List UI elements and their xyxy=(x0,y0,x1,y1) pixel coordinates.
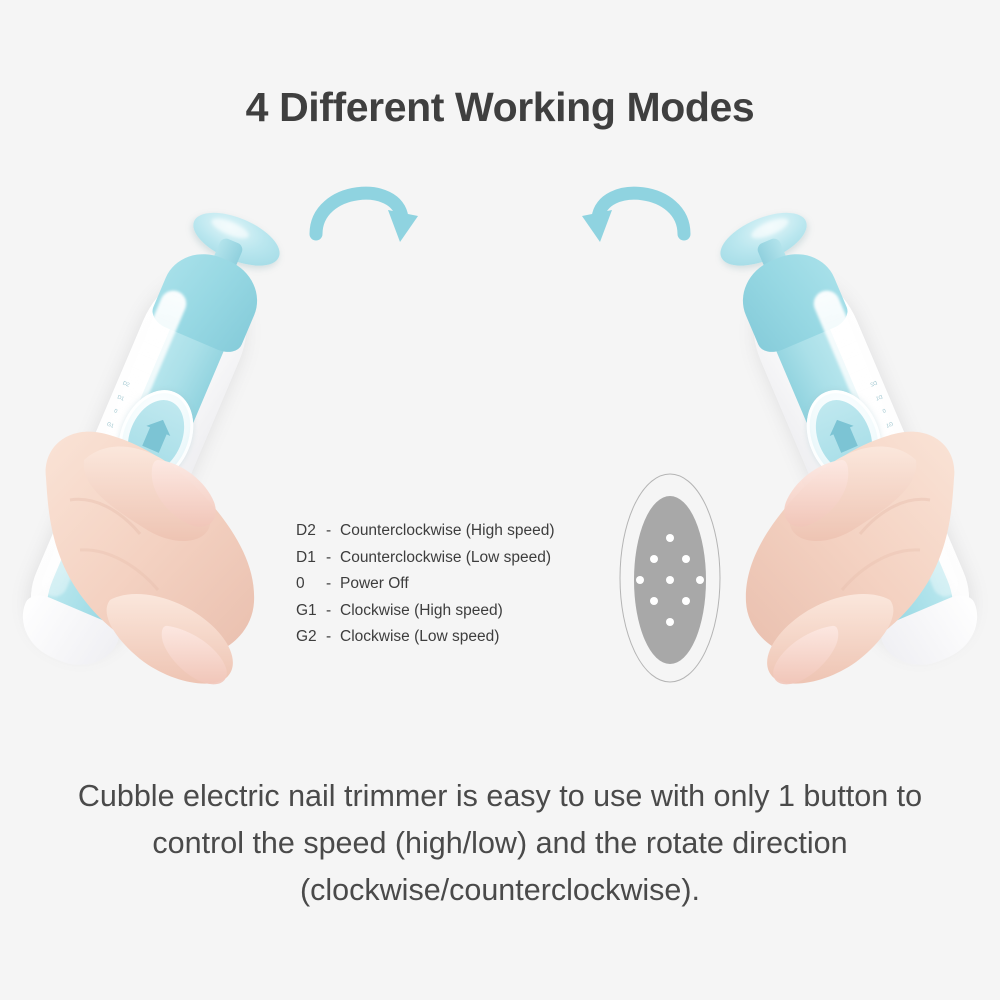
legend-code: G1 xyxy=(296,598,326,625)
sanding-disc-diagram xyxy=(617,472,723,684)
legend-code: G2 xyxy=(296,624,326,651)
legend-row: G1 - Clockwise (High speed) xyxy=(296,598,555,625)
legend-dash: - xyxy=(326,624,340,651)
page-title: 4 Different Working Modes xyxy=(0,84,1000,131)
legend-code: 0 xyxy=(296,571,326,598)
legend-row: D2 - Counterclockwise (High speed) xyxy=(296,518,555,545)
legend-dash: - xyxy=(326,545,340,572)
legend-label: Counterclockwise (Low speed) xyxy=(340,545,551,572)
clockwise-rotation-arrow xyxy=(302,160,422,252)
legend-code: D2 xyxy=(296,518,326,545)
legend-label: Power Off xyxy=(340,571,409,598)
counterclockwise-rotation-arrow xyxy=(578,160,698,252)
legend-row: 0 - Power Off xyxy=(296,571,555,598)
legend-label: Clockwise (High speed) xyxy=(340,598,503,625)
caption-text: Cubble electric nail trimmer is easy to … xyxy=(60,773,940,914)
legend-dash: - xyxy=(326,518,340,545)
hand-holding-device xyxy=(40,350,330,690)
legend-label: Clockwise (Low speed) xyxy=(340,624,499,651)
legend-row: D1 - Counterclockwise (Low speed) xyxy=(296,545,555,572)
legend-dash: - xyxy=(326,598,340,625)
legend-dash: - xyxy=(326,571,340,598)
legend-row: G2 - Clockwise (Low speed) xyxy=(296,624,555,651)
working-modes-legend: D2 - Counterclockwise (High speed) D1 - … xyxy=(296,518,555,651)
legend-code: D1 xyxy=(296,545,326,572)
legend-label: Counterclockwise (High speed) xyxy=(340,518,555,545)
device-illustration-right: Cubble D2 D1 0 G1 G2 xyxy=(540,160,960,700)
product-infographic: 4 Different Working Modes Cubb xyxy=(0,0,1000,1000)
